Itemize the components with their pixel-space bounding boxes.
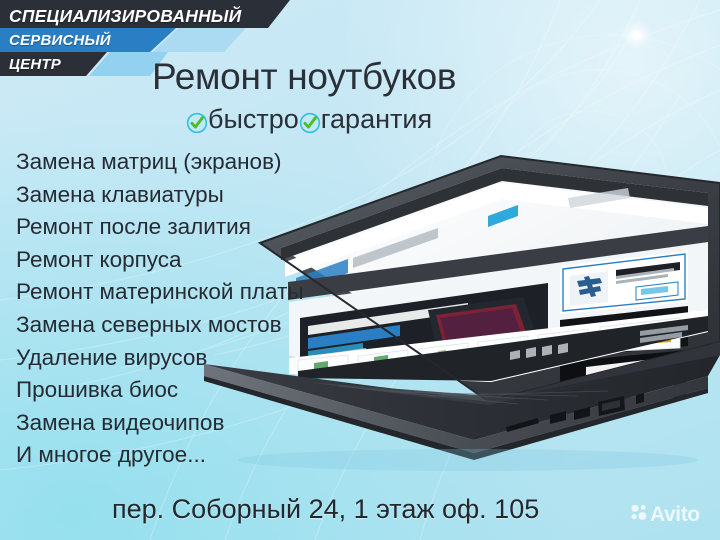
advertisement-canvas: СПЕЦИАЛИЗИРОВАННЫЙ СЕРВИСНЫЙ ЦЕНТР [0,0,720,540]
list-item: Ремонт материнской платы [16,276,376,309]
list-item: Замена северных мостов [16,309,376,342]
avito-dots-icon [630,504,647,526]
badge-line-2: СЕРВИСНЫЙ [9,32,111,49]
badge-line-3: ЦЕНТР [9,56,61,73]
list-item: Замена видеочипов [16,407,376,440]
badge-line-1: СПЕЦИАЛИЗИРОВАННЫЙ [9,6,241,27]
list-item: Ремонт корпуса [16,244,376,277]
list-item: Ремонт после залития [16,211,376,244]
avito-watermark: Avito [630,503,700,527]
list-item: Прошивка биос [16,374,376,407]
benefits-line: быстро гарантия [186,104,432,135]
list-item: Удаление вирусов [16,342,376,375]
avito-label: Avito [650,503,700,527]
list-item: Замена матриц (экранов) [16,146,376,179]
list-item: Замена клавиатуры [16,179,376,212]
benefit-label-2: гарантия [321,104,432,135]
check-circle-icon [299,110,321,132]
check-circle-icon [186,110,208,132]
page-title: Ремонт ноутбуков [152,56,456,98]
background-glow-dot [632,31,641,40]
services-list: Замена матриц (экранов) Замена клавиатур… [16,146,376,472]
address-line: пер. Соборный 24, 1 этаж оф. 105 [112,494,539,525]
benefit-label-1: быстро [208,104,299,135]
list-item: И многое другое... [16,439,376,472]
